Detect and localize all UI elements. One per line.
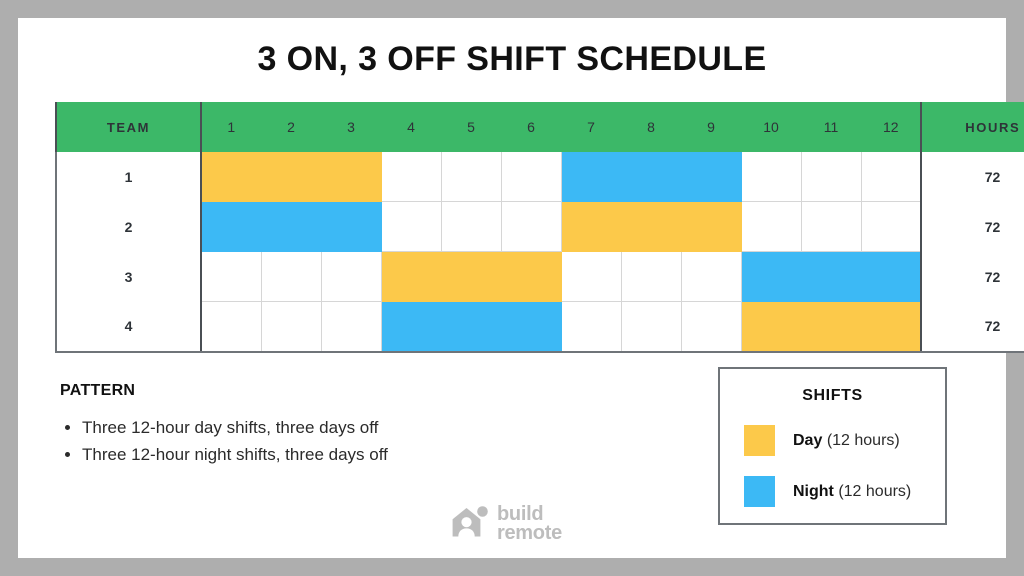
- shift-cell-off: [381, 152, 441, 202]
- team-number-cell: 1: [56, 152, 201, 202]
- table-row: 372: [56, 252, 1024, 302]
- page-title: 3 ON, 3 OFF SHIFT SCHEDULE: [18, 40, 1006, 79]
- column-header-day-2: 2: [261, 103, 321, 152]
- column-header-team: TEAM: [56, 103, 201, 152]
- team-number-cell: 3: [56, 252, 201, 302]
- shift-cell-off: [561, 252, 621, 302]
- table-row: 172: [56, 152, 1024, 202]
- shift-cell-day: [441, 252, 501, 302]
- table-row: 272: [56, 202, 1024, 252]
- shift-cell-off: [801, 152, 861, 202]
- shift-cell-night: [561, 152, 621, 202]
- shift-cell-off: [681, 302, 741, 353]
- shift-cell-night: [201, 202, 261, 252]
- shift-cell-off: [441, 202, 501, 252]
- shift-cell-off: [321, 252, 381, 302]
- shift-cell-night: [501, 302, 561, 353]
- buildremote-logo: build remote: [452, 505, 562, 543]
- pattern-section: PATTERN Three 12-hour day shifts, three …: [60, 382, 540, 468]
- legend-swatch-night: [744, 476, 775, 507]
- legend-swatch-day: [744, 425, 775, 456]
- shift-cell-night: [801, 252, 861, 302]
- legend-shift-name: Night: [793, 483, 834, 500]
- column-header-day-4: 4: [381, 103, 441, 152]
- column-header-day-6: 6: [501, 103, 561, 152]
- shift-cell-off: [441, 152, 501, 202]
- shift-cell-night: [321, 202, 381, 252]
- column-header-day-7: 7: [561, 103, 621, 152]
- shift-cell-night: [381, 302, 441, 353]
- legend-entries: Day (12 hours)Night (12 hours): [720, 425, 945, 507]
- shift-cell-day: [801, 302, 861, 353]
- table-row: 472: [56, 302, 1024, 353]
- pattern-item: Three 12-hour day shifts, three days off: [82, 414, 540, 441]
- shift-cell-off: [801, 202, 861, 252]
- shift-cell-day: [501, 252, 561, 302]
- shift-cell-off: [741, 152, 801, 202]
- shift-cell-day: [261, 152, 321, 202]
- column-header-day-5: 5: [441, 103, 501, 152]
- shifts-legend: SHIFTS Day (12 hours)Night (12 hours): [718, 367, 947, 525]
- shift-cell-off: [561, 302, 621, 353]
- legend-label: Night (12 hours): [793, 483, 911, 501]
- shift-cell-off: [861, 152, 921, 202]
- legend-shift-detail: (12 hours): [827, 432, 900, 449]
- table-header-row: TEAM 1 2 3 4 5 6 7 8 9 10 11 12 HOURS: [56, 103, 1024, 152]
- logo-wordmark: build remote: [497, 505, 562, 543]
- shift-cell-off: [861, 202, 921, 252]
- shift-cell-night: [681, 152, 741, 202]
- pattern-list: Three 12-hour day shifts, three days off…: [60, 414, 540, 468]
- shift-cell-off: [201, 302, 261, 353]
- shift-schedule-table: TEAM 1 2 3 4 5 6 7 8 9 10 11 12 HOURS 17…: [55, 102, 1024, 353]
- shift-cell-night: [621, 152, 681, 202]
- legend-entry: Day (12 hours): [720, 425, 945, 456]
- pattern-item: Three 12-hour night shifts, three days o…: [82, 441, 540, 468]
- shift-cell-night: [441, 302, 501, 353]
- column-header-day-8: 8: [621, 103, 681, 152]
- shift-cell-night: [261, 202, 321, 252]
- team-number-cell: 4: [56, 302, 201, 353]
- shift-cell-off: [201, 252, 261, 302]
- infographic-frame: 3 ON, 3 OFF SHIFT SCHEDULE TEAM 1 2 3 4 …: [18, 18, 1006, 558]
- hours-value-cell: 72: [921, 252, 1024, 302]
- shift-cell-off: [621, 302, 681, 353]
- shift-cell-day: [861, 302, 921, 353]
- shift-cell-day: [381, 252, 441, 302]
- pattern-heading: PATTERN: [60, 382, 540, 400]
- team-number-cell: 2: [56, 202, 201, 252]
- shift-cell-night: [861, 252, 921, 302]
- shift-cell-day: [741, 302, 801, 353]
- shift-cell-off: [501, 202, 561, 252]
- logo-line-remote: remote: [497, 524, 562, 543]
- legend-shift-name: Day: [793, 432, 822, 449]
- hours-value-cell: 72: [921, 152, 1024, 202]
- column-header-day-1: 1: [201, 103, 261, 152]
- shift-cell-day: [201, 152, 261, 202]
- legend-heading: SHIFTS: [720, 387, 945, 405]
- shift-cell-night: [741, 252, 801, 302]
- shift-cell-off: [741, 202, 801, 252]
- legend-label: Day (12 hours): [793, 432, 900, 450]
- shift-cell-off: [321, 302, 381, 353]
- shift-cell-off: [261, 252, 321, 302]
- house-person-icon: [452, 506, 490, 543]
- legend-shift-detail: (12 hours): [838, 483, 911, 500]
- column-header-day-11: 11: [801, 103, 861, 152]
- column-header-day-9: 9: [681, 103, 741, 152]
- column-header-hours: HOURS: [921, 103, 1024, 152]
- hours-value-cell: 72: [921, 202, 1024, 252]
- column-header-day-3: 3: [321, 103, 381, 152]
- shift-cell-day: [621, 202, 681, 252]
- shift-cell-off: [261, 302, 321, 353]
- shift-cell-off: [501, 152, 561, 202]
- shift-cell-day: [561, 202, 621, 252]
- shift-cell-day: [681, 202, 741, 252]
- hours-value-cell: 72: [921, 302, 1024, 353]
- legend-entry: Night (12 hours): [720, 476, 945, 507]
- column-header-day-10: 10: [741, 103, 801, 152]
- shift-cell-day: [321, 152, 381, 202]
- shift-cell-off: [621, 252, 681, 302]
- shift-cell-off: [681, 252, 741, 302]
- shift-cell-off: [381, 202, 441, 252]
- column-header-day-12: 12: [861, 103, 921, 152]
